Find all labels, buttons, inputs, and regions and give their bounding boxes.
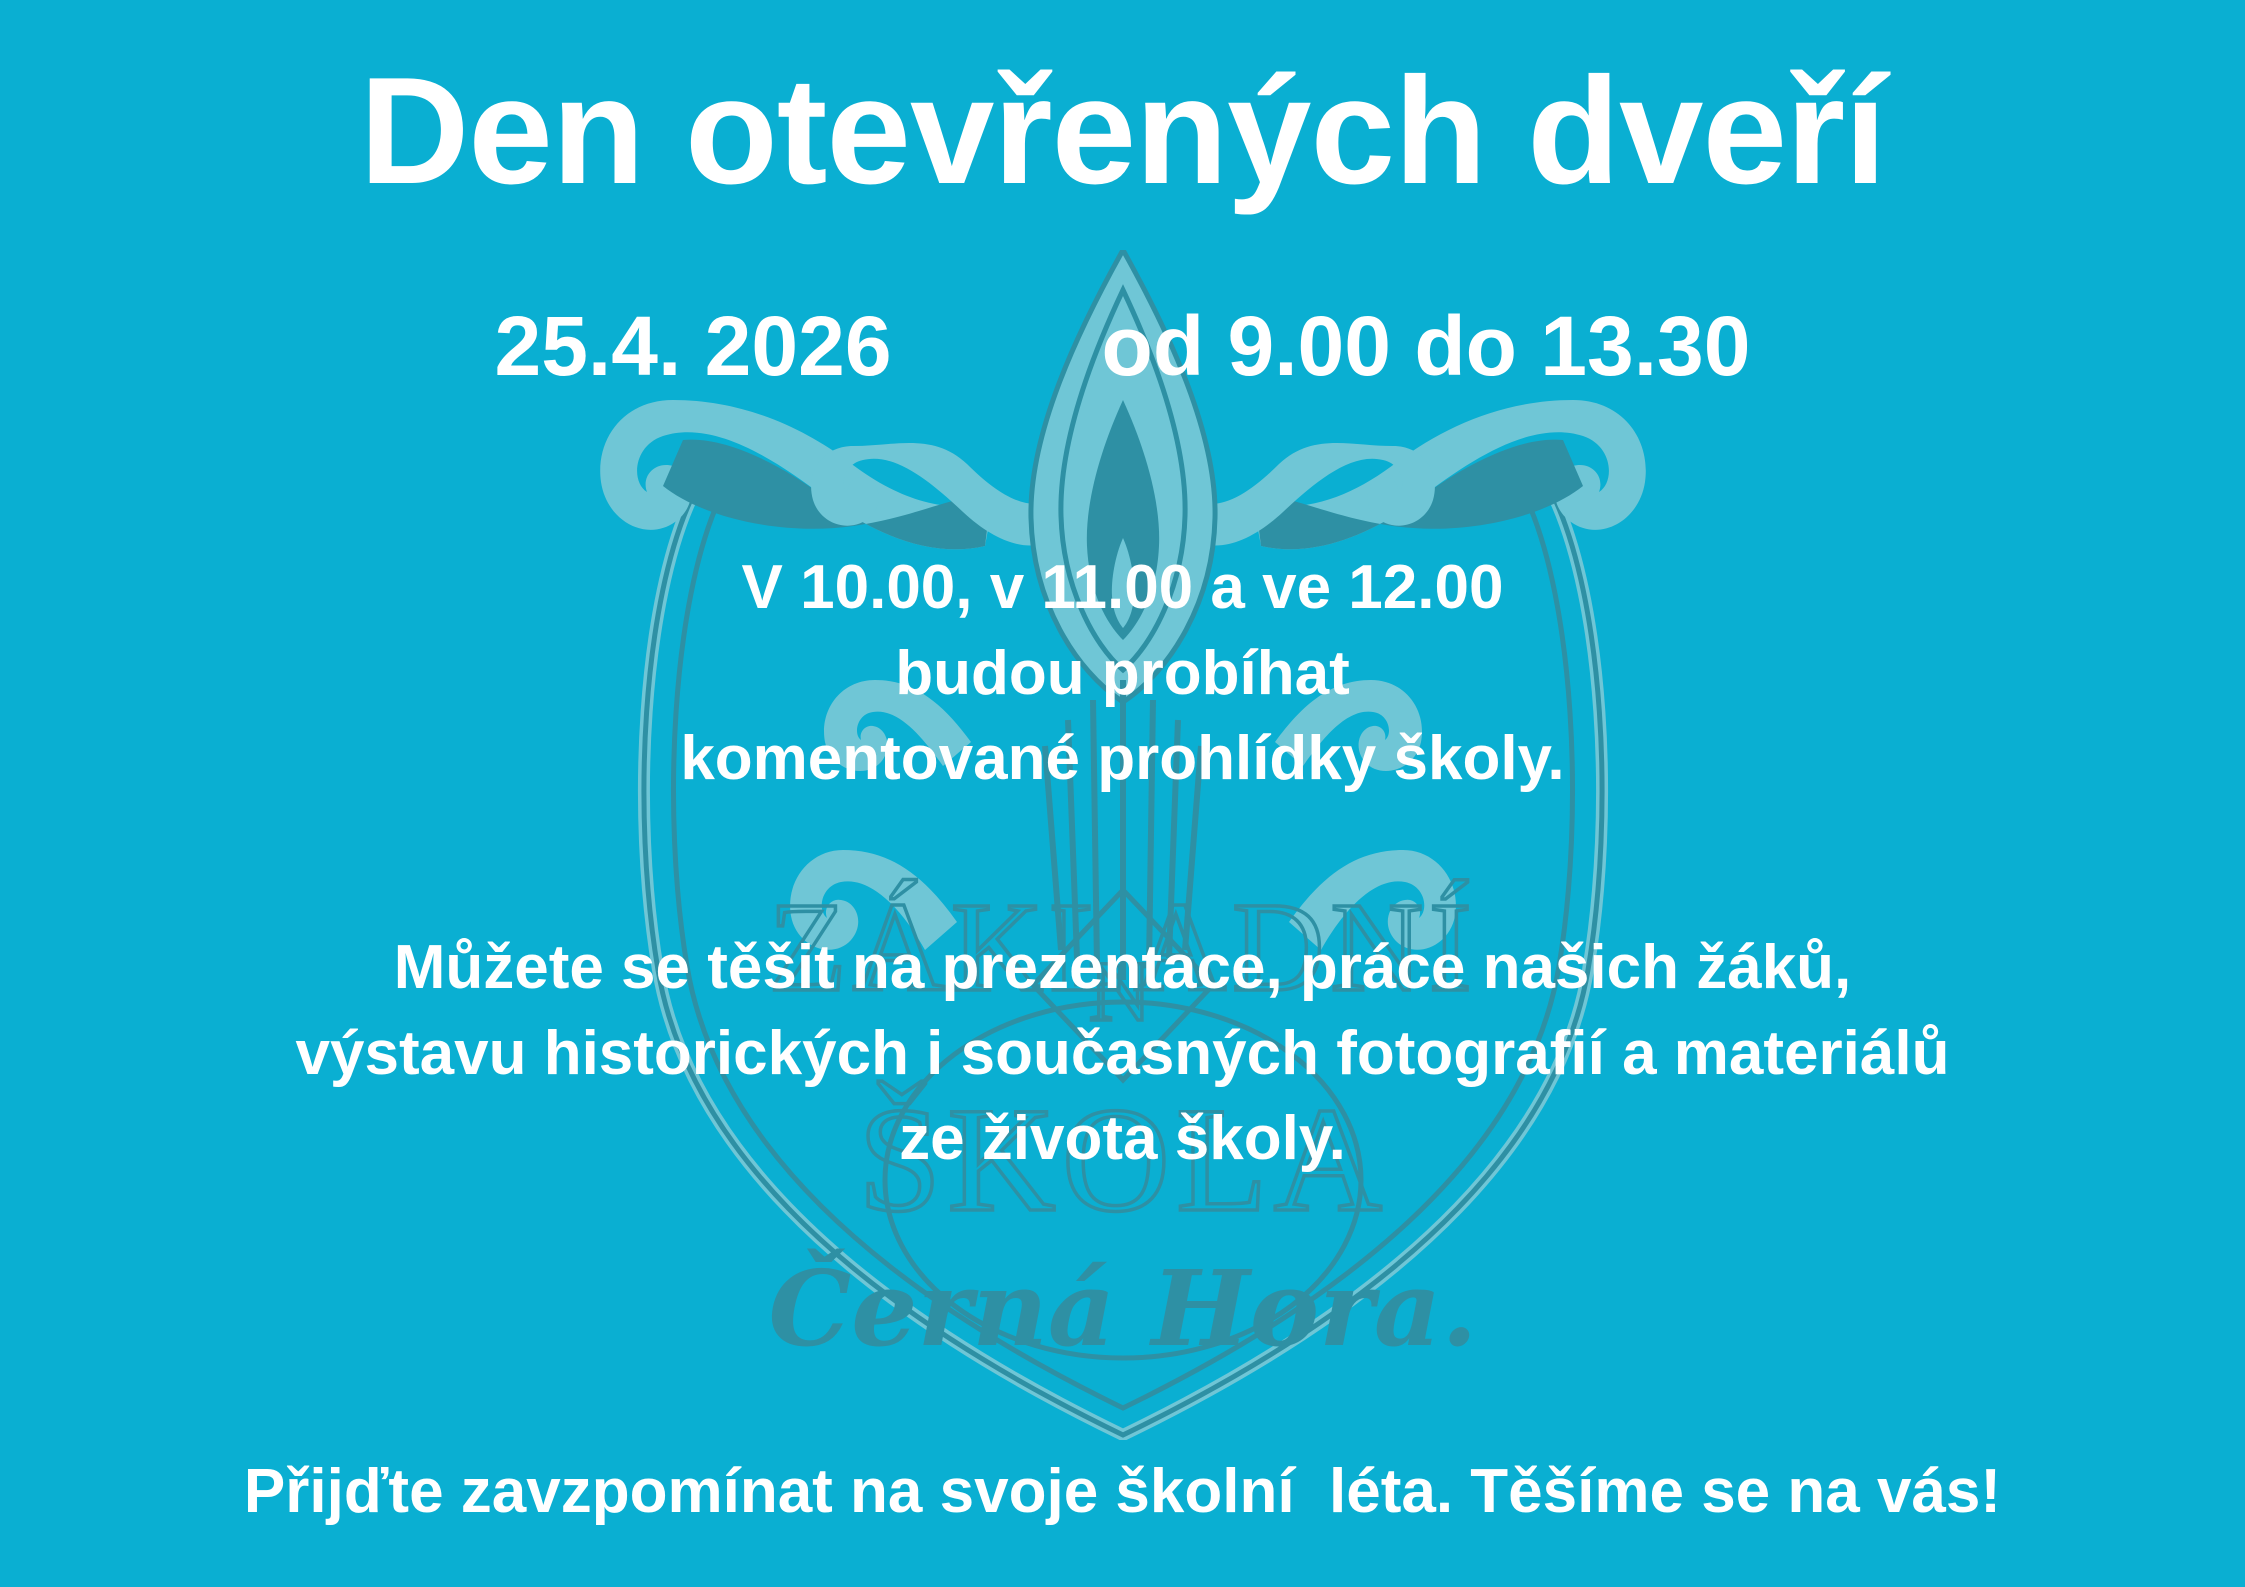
event-date: 25.4. 2026	[495, 300, 892, 392]
crest-right-scroll	[1253, 400, 1646, 549]
closing-invitation-text: Přijďte zavzpomínat na svoje školní léta…	[0, 1452, 2245, 1533]
crest-crown-right-wing	[1199, 443, 1435, 546]
crest-crown-left-wing	[811, 443, 1047, 546]
event-hours: od 9.00 do 13.30	[1102, 300, 1751, 392]
page-title: Den otevřených dveří	[0, 52, 2245, 212]
school-crest-watermark: N ZÁKLADNÍ ŠKOLA Černá Hora.	[523, 250, 1723, 1440]
guided-tours-text: V 10.00, v 11.00 a ve 12.00 budou probíh…	[0, 545, 2245, 802]
poster-canvas: N ZÁKLADNÍ ŠKOLA Černá Hora. Den otevřen…	[0, 0, 2245, 1587]
highlights-text: Můžete se těšit na prezentace, práce naš…	[0, 925, 2245, 1182]
crest-text-cerna-hora: Černá Hora.	[768, 1247, 1477, 1370]
crest-left-scroll	[600, 400, 993, 549]
event-datetime-row: 25.4. 2026 od 9.00 do 13.30	[0, 300, 2245, 392]
